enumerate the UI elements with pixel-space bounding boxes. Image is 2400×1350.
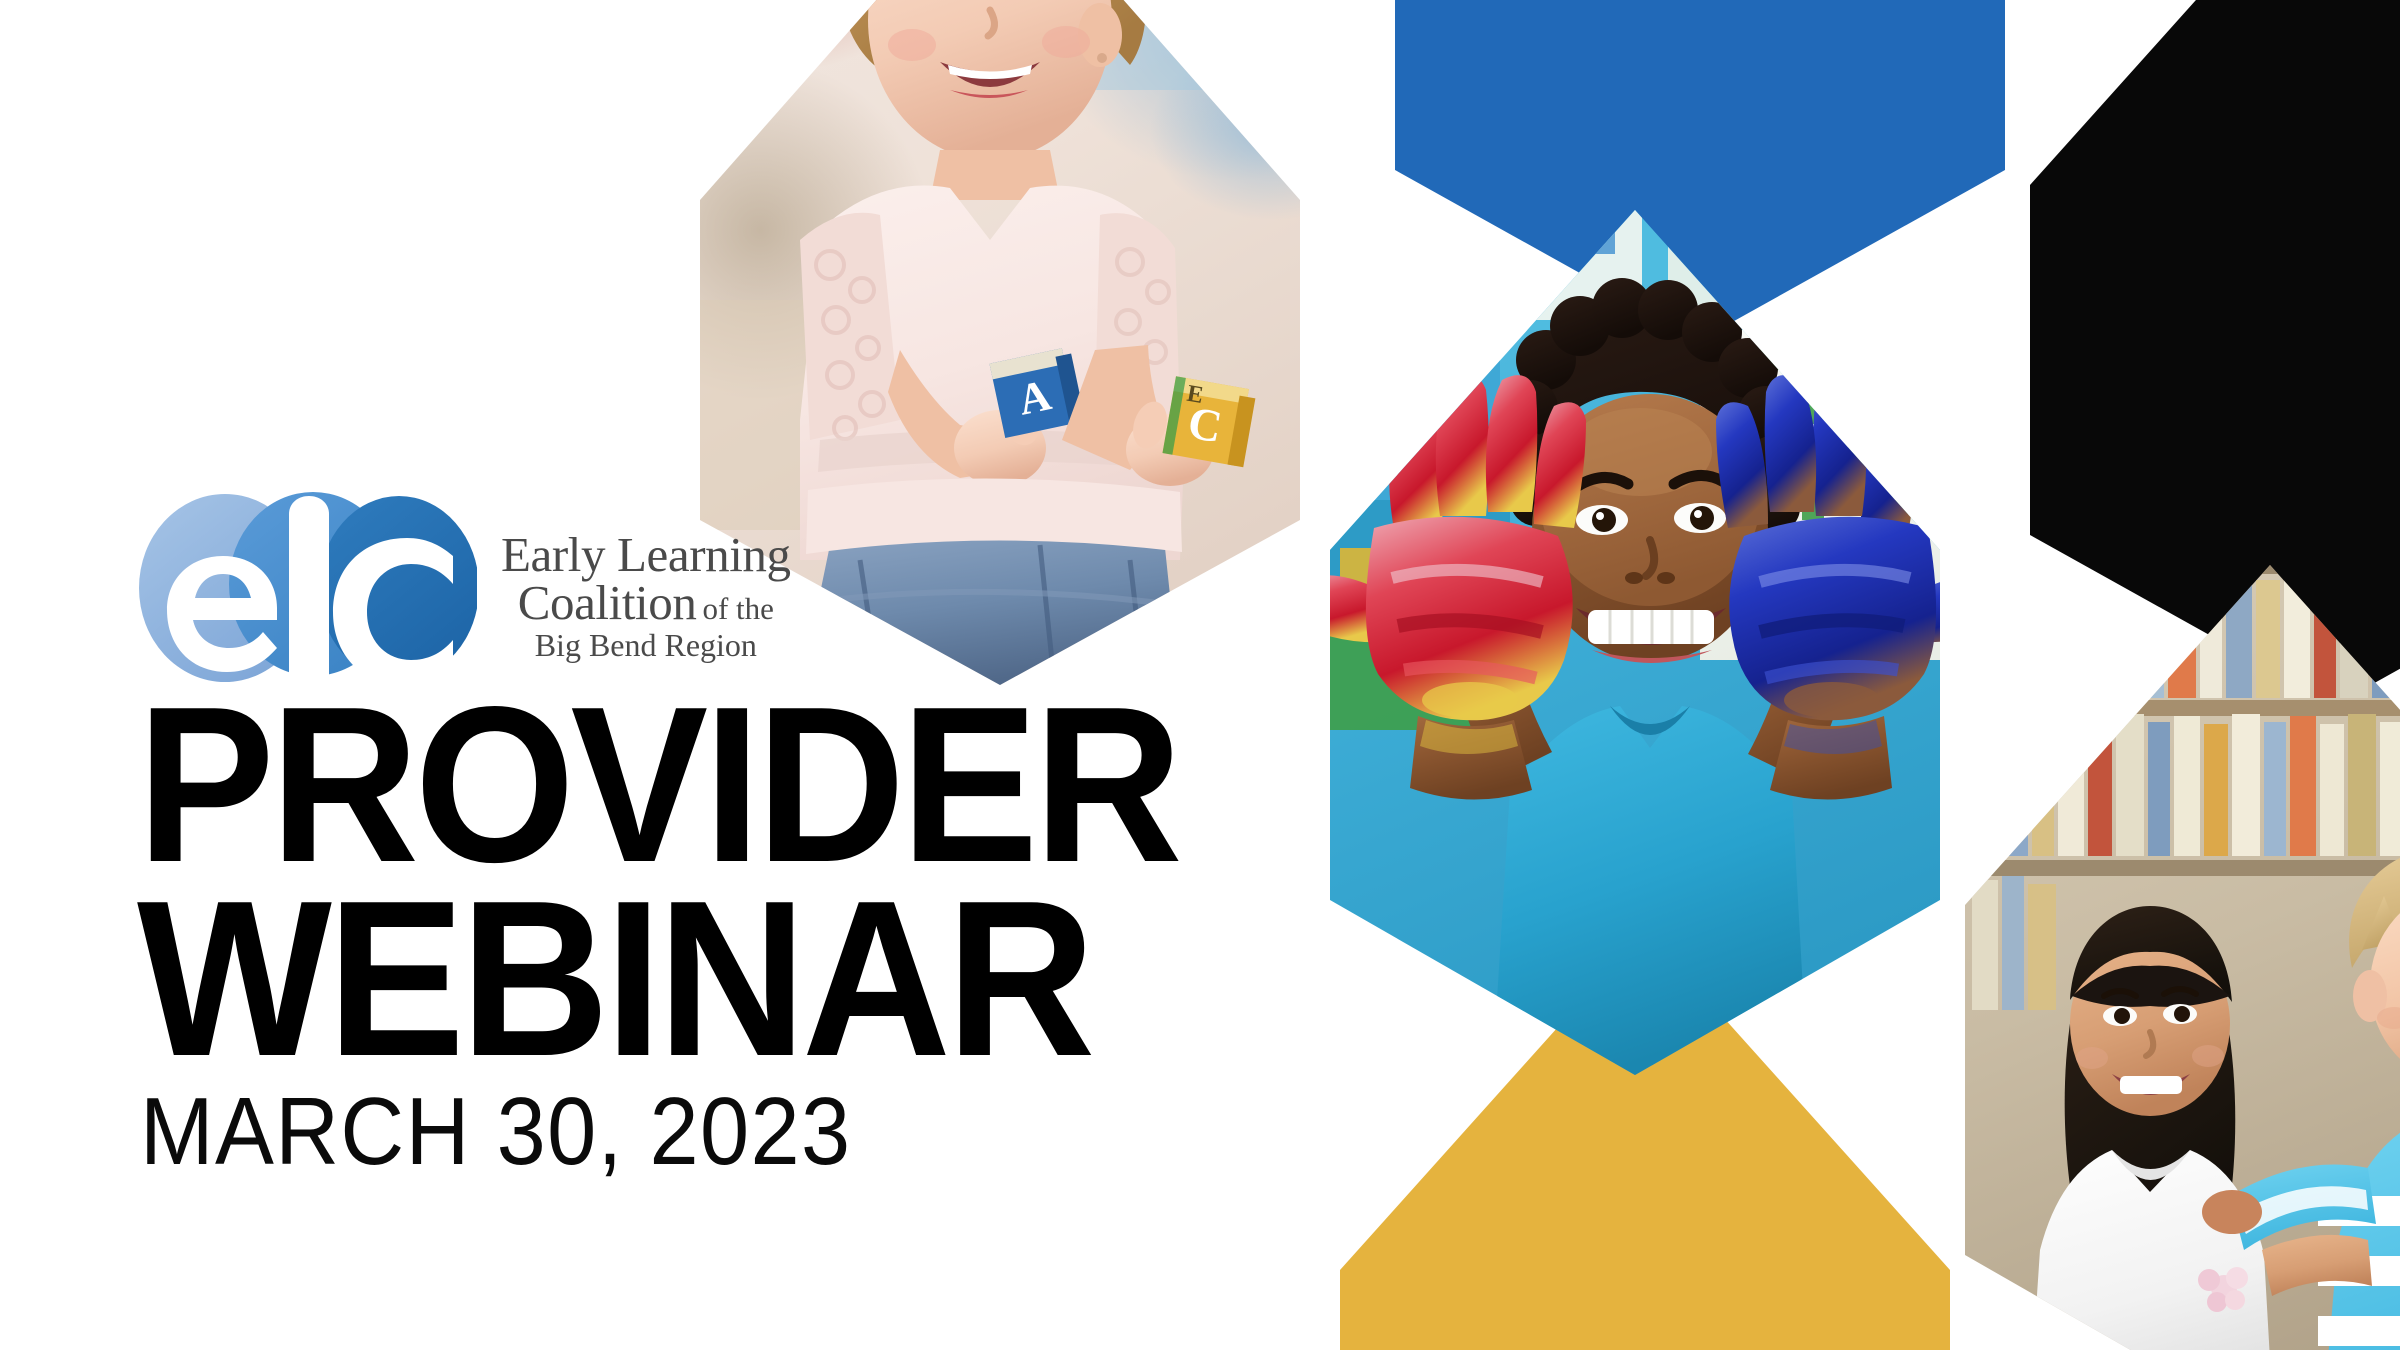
elc-logo-lockup: Early Learning Coalition of the Big Bend… bbox=[137, 492, 791, 682]
logo-wordmark: Early Learning Coalition of the Big Bend… bbox=[501, 513, 791, 660]
logo-wordmark-coalition: Coalition bbox=[518, 579, 697, 627]
hex-solid-black-top-right bbox=[2030, 0, 2400, 705]
page-title: PROVIDER WEBINAR bbox=[137, 688, 1287, 1077]
elc-logo-mark bbox=[137, 492, 477, 682]
logo-wordmark-line-1: Early Learning bbox=[501, 531, 791, 579]
hex-photo-painted-hands bbox=[1294, 200, 2009, 1090]
hex-photo-library-friends bbox=[1960, 560, 2400, 1350]
logo-wordmark-of-the: of the bbox=[702, 594, 773, 624]
logo-wordmark-line-2: Coalition of the bbox=[518, 579, 774, 627]
event-date: MARCH 30, 2023 bbox=[140, 1084, 851, 1180]
title-line-provider: PROVIDER bbox=[137, 688, 1207, 882]
logo-wordmark-line-3: Big Bend Region bbox=[535, 630, 757, 661]
hex-solid-blue-bottom-right bbox=[1975, 1290, 2400, 1350]
hex-solid-gold-bottom bbox=[1340, 930, 1950, 1350]
left-text-panel: Early Learning Coalition of the Big Bend… bbox=[0, 0, 1320, 1350]
slide-canvas: A C E bbox=[0, 0, 2400, 1350]
hex-solid-blue-top bbox=[1395, 0, 2005, 340]
title-line-webinar: WEBINAR bbox=[137, 882, 1207, 1076]
